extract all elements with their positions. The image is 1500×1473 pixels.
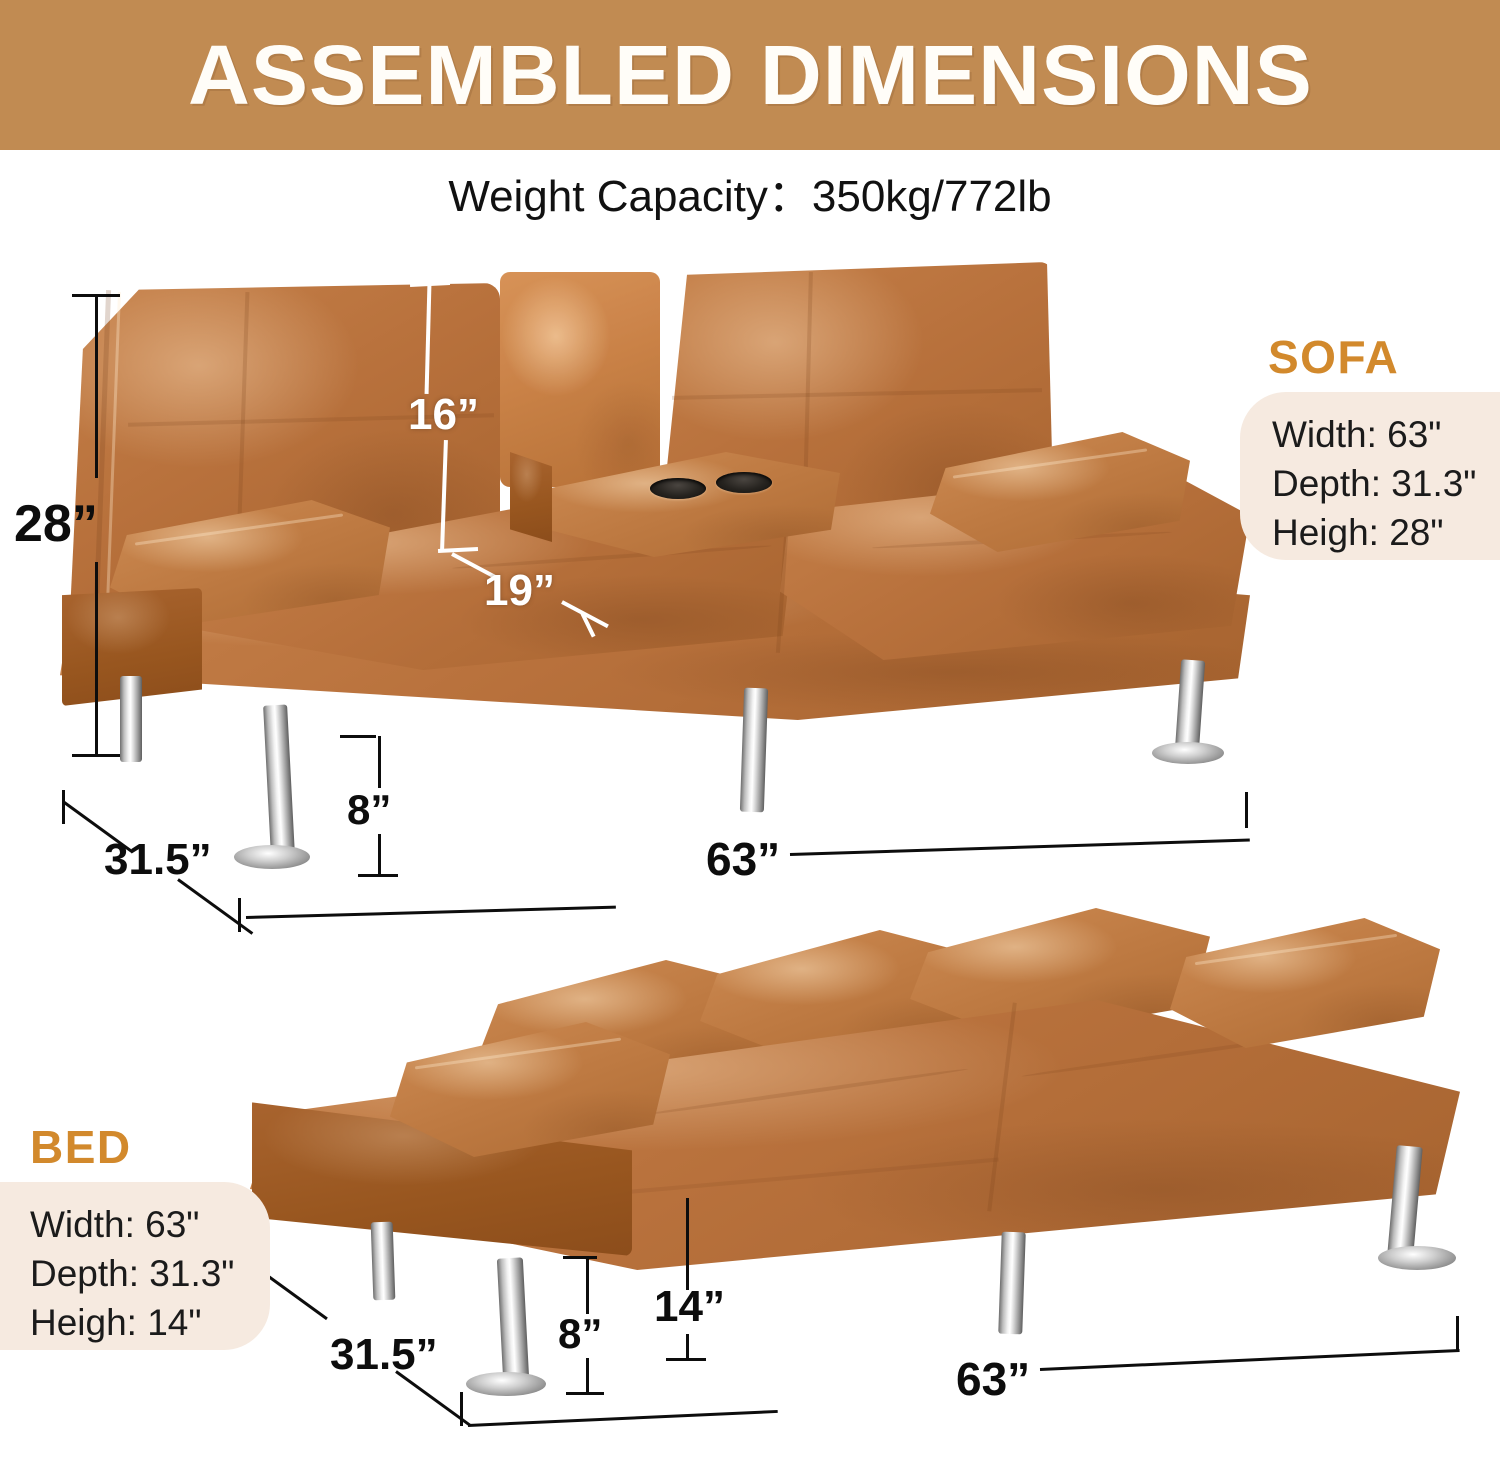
sofa-leg-tick-top	[340, 735, 376, 738]
sofa-height-line-lower	[95, 562, 98, 756]
sofa-cup-holder-left	[650, 478, 706, 499]
bed-width-tick-right	[1456, 1316, 1459, 1350]
sofa-foot-front-left	[234, 845, 310, 869]
bed-card-heading: BED	[30, 1120, 132, 1174]
bed-width-label: 63”	[956, 1352, 1030, 1406]
bed-height-tick-bottom	[666, 1358, 706, 1361]
sofa-leg-back-right	[1175, 659, 1205, 752]
sofa-height-tick-bottom	[72, 754, 120, 757]
sofa-console-support	[510, 452, 552, 542]
sofa-spec-card: Width: 63" Depth: 31.3" Heigh: 28"	[1240, 392, 1500, 560]
sofa-depth-tick-end	[238, 898, 241, 932]
sofa-backrest-height-label: 16”	[408, 390, 479, 440]
bed-leg-tick-bottom	[566, 1392, 604, 1395]
bed-height-label: 14”	[654, 1282, 725, 1332]
sofa-depth-line-lower	[177, 878, 253, 935]
page-title: ASSEMBLED DIMENSIONS	[188, 27, 1313, 124]
bed-spec-depth: Depth: 31.3"	[30, 1249, 270, 1298]
sofa-spec-depth: Depth: 31.3"	[1272, 459, 1500, 508]
bed-leg-front-left	[497, 1257, 529, 1380]
bed-depth-label: 31.5”	[330, 1330, 438, 1380]
sofa-width-line-right	[790, 839, 1250, 856]
bed-spec-height: Heigh: 14"	[30, 1298, 270, 1347]
bed-foot-back-right	[1378, 1246, 1456, 1270]
sofa-leg-line-upper	[378, 736, 381, 788]
bed-leg-back-left	[371, 1222, 396, 1301]
sofa-depth-tick-start	[62, 790, 65, 824]
sofa-spec-height: Heigh: 28"	[1272, 508, 1500, 557]
bed-spec-width: Width: 63"	[30, 1200, 270, 1249]
sofa-width-tick-right	[1245, 792, 1248, 828]
sofa-center-back-panel	[500, 272, 660, 487]
sofa-width-label: 63”	[706, 832, 780, 886]
sofa-cup-holder-right	[716, 472, 772, 493]
bed-right-armrest-pillow	[1170, 918, 1440, 1048]
bed-depth-tick-end	[460, 1392, 463, 1426]
bed-width-line-left	[468, 1410, 778, 1427]
sofa-foot-back-right	[1152, 742, 1224, 764]
bed-height-line-upper	[686, 1198, 689, 1290]
sofa-width-line-left	[246, 906, 616, 919]
bed-spec-card: Width: 63" Depth: 31.3" Heigh: 14"	[0, 1182, 270, 1350]
sofa-leg-height-label: 8”	[347, 786, 391, 834]
bed-leg-line-upper	[586, 1256, 589, 1314]
sofa-seat-depth-label: 19”	[484, 566, 555, 616]
sofa-leg-back-left	[120, 676, 142, 762]
bed-height-line-lower	[686, 1334, 689, 1360]
sofa-spec-width: Width: 63"	[1272, 410, 1500, 459]
bed-width-line-right	[1040, 1349, 1460, 1371]
sofa-depth-label: 31.5”	[104, 835, 212, 885]
sofa-leg-front-left	[263, 704, 295, 855]
sofa-card-heading: SOFA	[1268, 330, 1399, 384]
header-banner: ASSEMBLED DIMENSIONS	[0, 0, 1500, 150]
sofa-leg-front-right	[740, 688, 768, 813]
weight-capacity-text: Weight Capacity：350kg/772lb	[0, 160, 1500, 224]
sofa-leg-tick-bottom	[358, 874, 398, 877]
sofa-leg-line-lower	[378, 834, 381, 876]
bed-leg-front-right	[998, 1232, 1026, 1335]
bed-foot-front-left	[466, 1372, 546, 1396]
bed-leg-line-lower	[586, 1358, 589, 1394]
bed-leg-tick-top	[563, 1256, 597, 1259]
sofa-height-label: 28”	[14, 494, 98, 554]
bed-leg-height-label: 8”	[558, 1310, 602, 1358]
sofa-height-line-upper	[95, 294, 98, 478]
